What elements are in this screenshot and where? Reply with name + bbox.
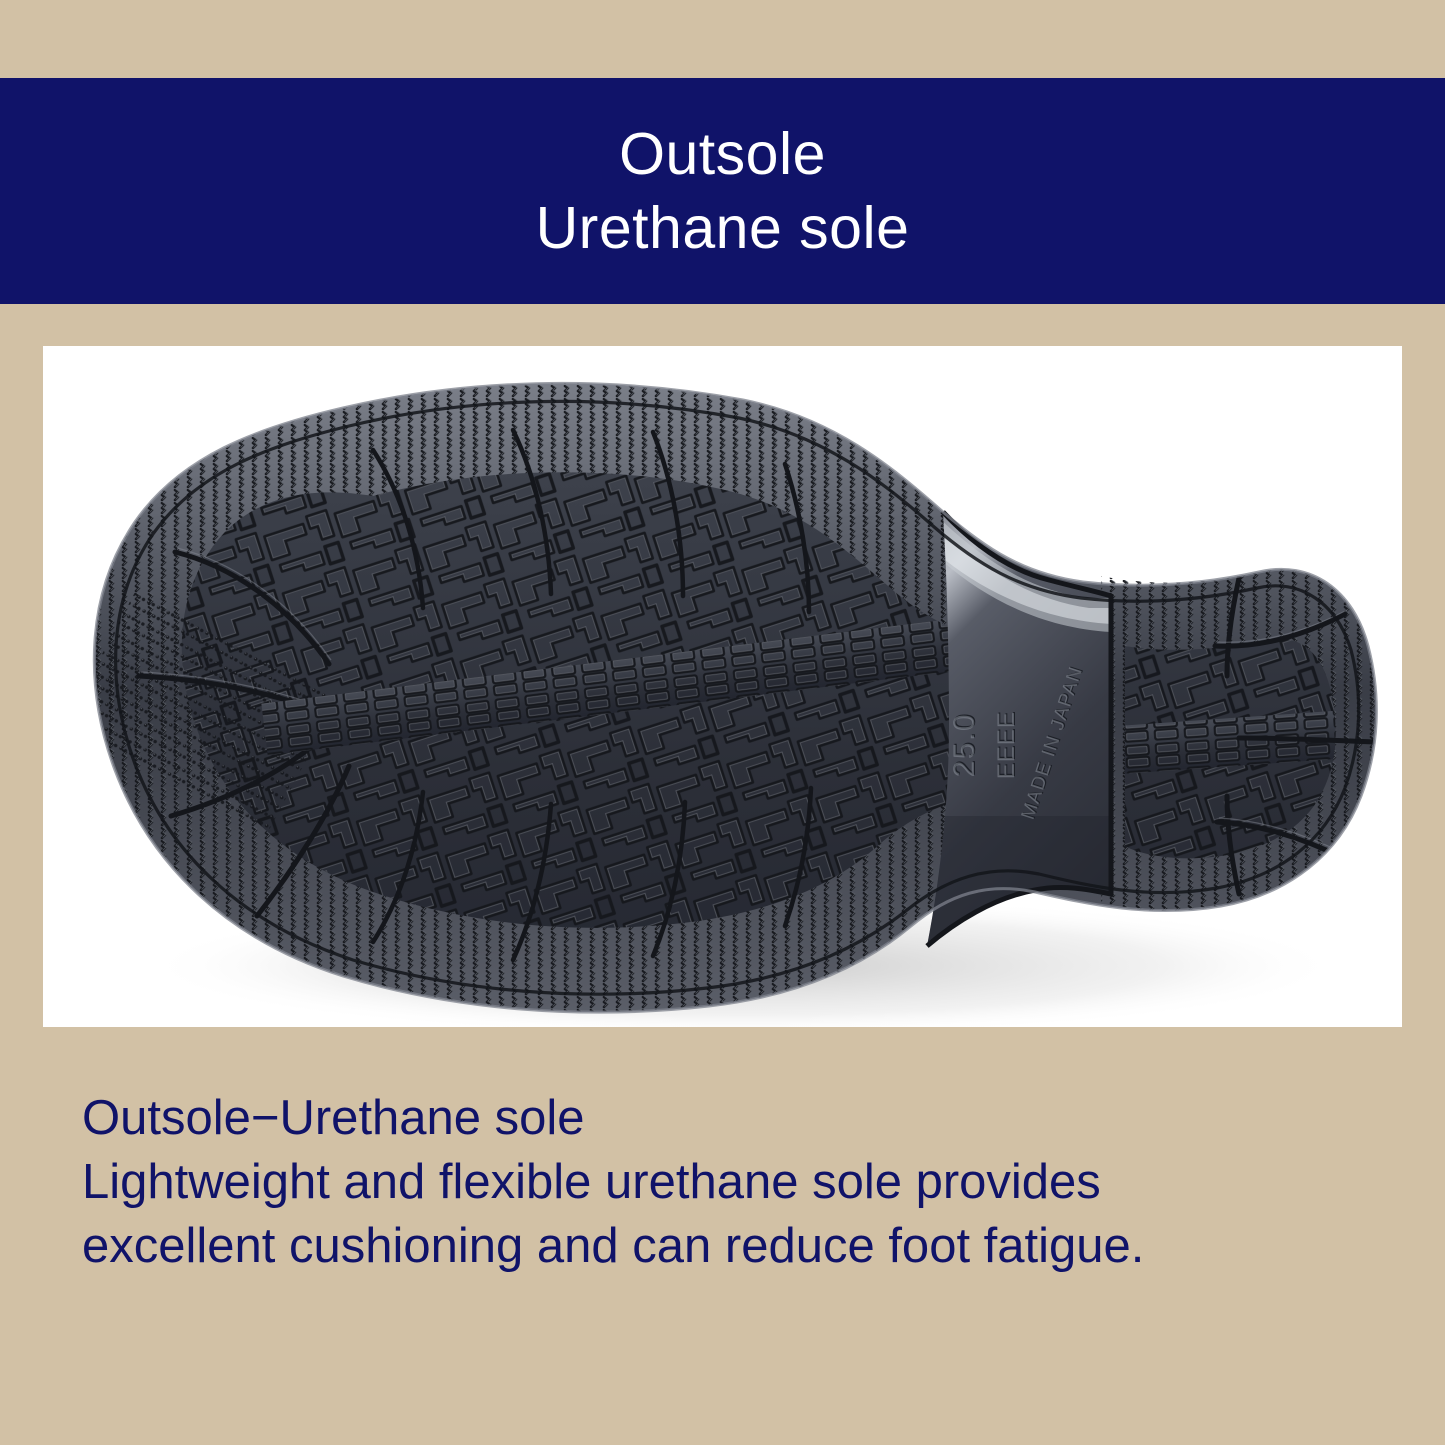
- slide-root: Outsole Urethane sole: [0, 0, 1445, 1445]
- outsole-photo-image: 25.0 25.0 EEEE EEEE MADE IN JAPAN MADE I…: [43, 346, 1402, 1027]
- caption-block: Outsole−Urethane sole Lightweight and fl…: [82, 1086, 1382, 1278]
- outsole-photo-panel: 25.0 25.0 EEEE EEEE MADE IN JAPAN MADE I…: [43, 346, 1402, 1027]
- marking-width-highlight: EEEE: [993, 711, 1020, 779]
- header-banner: Outsole Urethane sole: [0, 78, 1445, 304]
- caption-line-3: excellent cushioning and can reduce foot…: [82, 1214, 1382, 1278]
- caption-line-2: Lightweight and flexible urethane sole p…: [82, 1150, 1382, 1214]
- marking-size-highlight: 25.0: [948, 713, 981, 777]
- banner-title-line1: Outsole: [619, 117, 826, 191]
- banner-title-line2: Urethane sole: [536, 191, 910, 265]
- caption-line-1: Outsole−Urethane sole: [82, 1086, 1382, 1150]
